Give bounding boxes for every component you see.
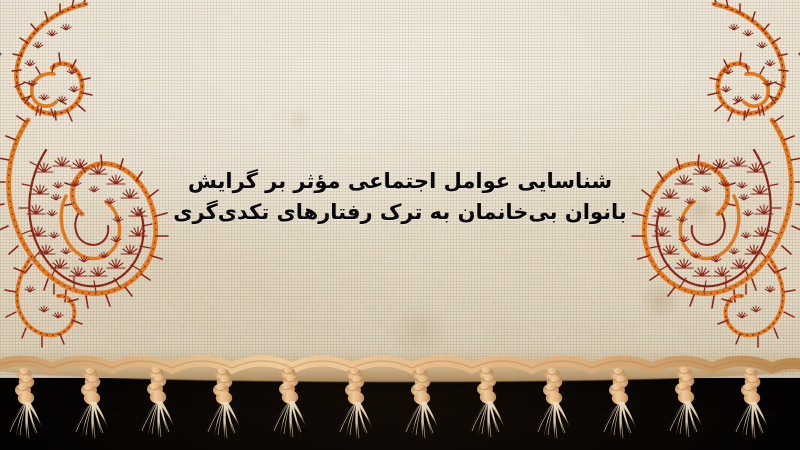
ornament-scroll-outer bbox=[12, 0, 92, 121]
ornament-navy-accents bbox=[0, 53, 2, 282]
tassel-group bbox=[8, 367, 768, 440]
ornament-lower-tail bbox=[0, 249, 82, 347]
tassel-fringe bbox=[0, 352, 800, 450]
title-line-1: شناسایی عوامل اجتماعی مؤثر بر گرایش bbox=[150, 166, 650, 197]
slide-title: شناسایی عوامل اجتماعی مؤثر بر گرایش بانو… bbox=[150, 166, 650, 228]
title-line-2: بانوان بی‌خانمان به ترک رفتارهای تکدی‌گر… bbox=[150, 197, 650, 228]
slide-canvas: شناسایی عوامل اجتماعی مؤثر بر گرایش بانو… bbox=[0, 0, 800, 450]
